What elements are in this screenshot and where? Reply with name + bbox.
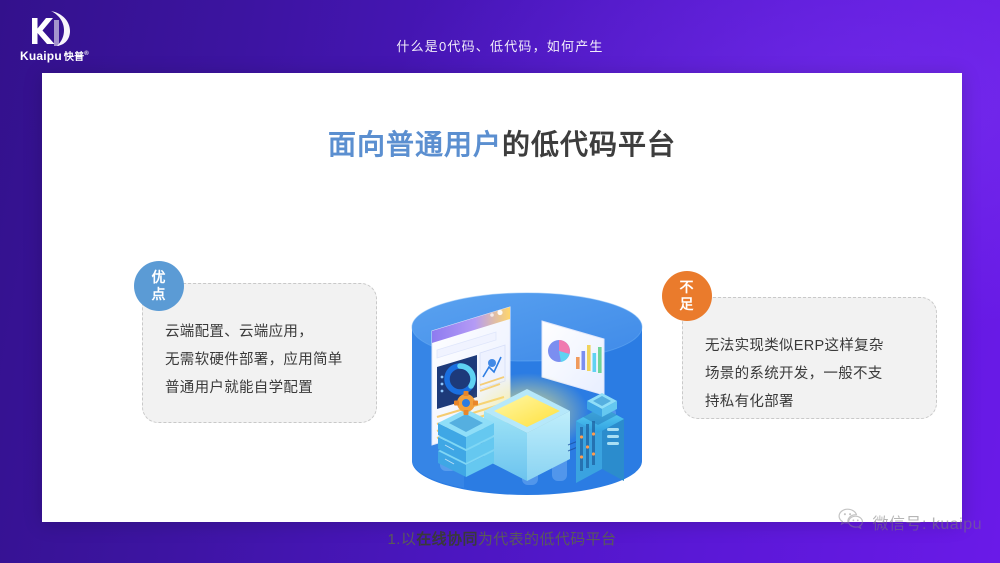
slide-card: 面向普通用户的低代码平台 云端配置、云端应用， 无需软硬件部署，应用简单 普通用… <box>42 73 962 522</box>
title-rest: 的低代码平台 <box>502 129 676 160</box>
pros-line-3: 普通用户就能自学配置 <box>165 374 360 402</box>
pros-badge-line-1: 优 <box>152 269 167 286</box>
header-caption: 什么是0代码、低代码，如何产生 <box>0 36 1000 55</box>
pros-line-2: 无需软硬件部署，应用简单 <box>165 346 360 374</box>
pie-chart <box>548 340 570 362</box>
cons-badge: 不 足 <box>662 271 712 321</box>
title-highlight: 面向普通用户 <box>328 129 502 160</box>
caption-suffix: 为代表的低代码平台 <box>478 531 617 548</box>
cons-text: 无法实现类似ERP这样复杂 场景的系统开发，一般不支 持私有化部署 <box>705 332 920 416</box>
presentation-slide: Kuaipu快普® 什么是0代码、低代码，如何产生 面向普通用户的低代码平台 云… <box>0 0 1000 563</box>
cons-badge-line-2: 足 <box>680 296 695 313</box>
pros-badge: 优 点 <box>134 261 184 311</box>
wechat-watermark: 微信号: kuaipu <box>838 508 982 535</box>
pros-badge-line-2: 点 <box>152 286 167 303</box>
caption-prefix: 1.以 <box>388 531 417 548</box>
isometric-cloud-platform-illustration <box>404 285 650 517</box>
caption-bold: 在线协同 <box>416 531 478 548</box>
cons-line-1: 无法实现类似ERP这样复杂 <box>705 332 920 360</box>
pros-box: 云端配置、云端应用， 无需软硬件部署，应用简单 普通用户就能自学配置 <box>142 283 377 423</box>
pros-line-1: 云端配置、云端应用， <box>165 318 360 346</box>
cons-box: 无法实现类似ERP这样复杂 场景的系统开发，一般不支 持私有化部署 <box>682 297 937 419</box>
cons-line-3: 持私有化部署 <box>705 388 920 416</box>
brand-name-cn: 快普 <box>64 52 84 63</box>
trademark-symbol: ® <box>84 51 89 57</box>
pros-text: 云端配置、云端应用， 无需软硬件部署，应用简单 普通用户就能自学配置 <box>165 318 360 402</box>
brand-wordmark: Kuaipu快普® <box>20 48 89 63</box>
brand-name-en: Kuaipu <box>20 49 62 63</box>
wechat-icon <box>838 508 864 535</box>
illustration-caption: 1.以在线协同为代表的低代码平台 <box>42 528 962 549</box>
watermark-text: 微信号: kuaipu <box>872 510 982 534</box>
cons-line-2: 场景的系统开发，一般不支 <box>705 360 920 388</box>
database-stack <box>438 409 494 477</box>
page-title: 面向普通用户的低代码平台 <box>42 123 962 163</box>
brand-logo: Kuaipu快普® <box>12 8 108 66</box>
cons-badge-line-1: 不 <box>680 279 695 296</box>
